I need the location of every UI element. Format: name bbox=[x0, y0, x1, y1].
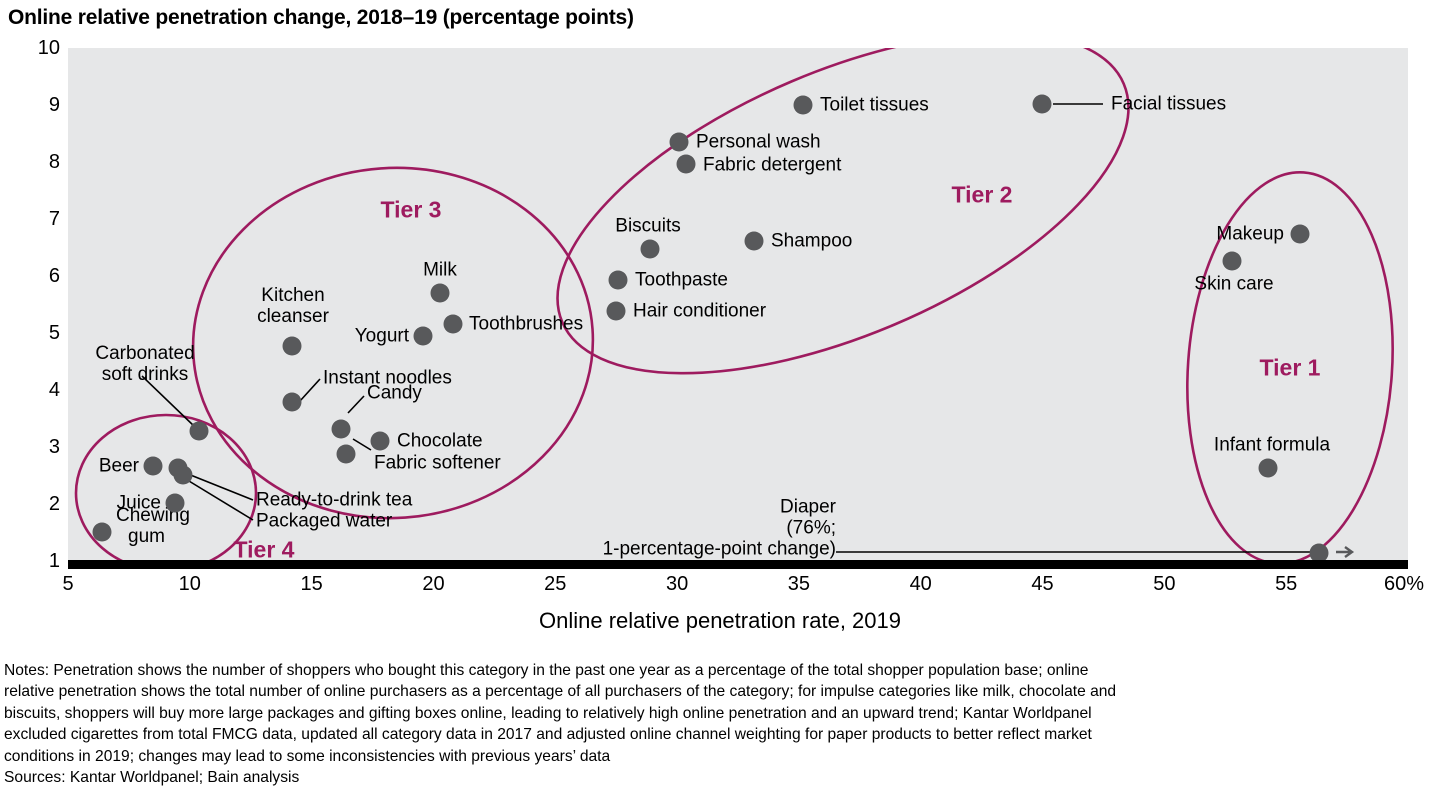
leader-pkg-water bbox=[184, 478, 253, 520]
y-tick-4: 4 bbox=[2, 380, 60, 400]
label-diaper-line2: (76%; bbox=[786, 518, 836, 539]
x-tick-5: 5 bbox=[62, 572, 73, 596]
label-personal-wash: Personal wash bbox=[696, 132, 821, 153]
label-ready-to-drink-tea: Ready-to-drink tea bbox=[256, 490, 412, 511]
y-tick-8: 8 bbox=[2, 152, 60, 172]
point-packaged-water[interactable] bbox=[174, 466, 193, 485]
label-juice: Juice bbox=[117, 493, 161, 514]
leader-fabric-softener bbox=[353, 439, 371, 450]
notes-line-4: excluded cigarettes from total FMCG data… bbox=[4, 724, 1436, 745]
label-diaper-line1: Diaper bbox=[780, 497, 836, 518]
label-fabric-detergent: Fabric detergent bbox=[703, 155, 841, 176]
point-personal-wash[interactable] bbox=[670, 133, 689, 152]
point-instant-noodles[interactable] bbox=[283, 393, 302, 412]
tier-1-label: Tier 1 bbox=[1260, 355, 1321, 382]
point-makeup[interactable] bbox=[1291, 225, 1310, 244]
x-axis-title: Online relative penetration rate, 2019 bbox=[0, 608, 1440, 634]
point-fabric-detergent[interactable] bbox=[677, 155, 696, 174]
label-candy: Candy bbox=[367, 383, 422, 404]
notes-line-5: conditions in 2019; changes may lead to … bbox=[4, 746, 1436, 767]
y-tick-3: 3 bbox=[2, 437, 60, 457]
label-diaper-line3: 1-percentage-point change) bbox=[603, 539, 836, 560]
point-toilet-tissues[interactable] bbox=[794, 96, 813, 115]
y-tick-1: 1 bbox=[2, 551, 60, 571]
point-chocolate[interactable] bbox=[371, 432, 390, 451]
x-tick-50: 50 bbox=[1153, 572, 1175, 596]
point-candy[interactable] bbox=[332, 420, 351, 439]
notes-line-1: Notes: Penetration shows the number of s… bbox=[4, 660, 1436, 681]
label-kitchen-line1: Kitchen bbox=[261, 285, 324, 306]
point-toothpaste[interactable] bbox=[609, 271, 628, 290]
point-fabric-softener[interactable] bbox=[337, 445, 356, 464]
point-infant-formula[interactable] bbox=[1259, 459, 1278, 478]
x-tick-45: 45 bbox=[1031, 572, 1053, 596]
label-toothpaste: Toothpaste bbox=[635, 270, 728, 291]
label-facial-tissues: Facial tissues bbox=[1111, 94, 1226, 115]
point-beer[interactable] bbox=[144, 457, 163, 476]
point-juice[interactable] bbox=[166, 494, 185, 513]
x-tick-35: 35 bbox=[788, 572, 810, 596]
notes-block: Notes: Penetration shows the number of s… bbox=[4, 660, 1436, 788]
y-axis-ticks: 10 9 8 7 6 5 4 3 2 1 bbox=[0, 48, 60, 562]
label-diaper: Diaper(76%;1-percentage-point change) bbox=[603, 497, 836, 560]
notes-line-3: biscuits, shoppers will buy more large p… bbox=[4, 703, 1436, 724]
notes-line-2: relative penetration shows the total num… bbox=[4, 681, 1436, 702]
tier-3-label: Tier 3 bbox=[381, 197, 442, 224]
page-title: Online relative penetration change, 2018… bbox=[8, 6, 634, 30]
notes-sources: Sources: Kantar Worldpanel; Bain analysi… bbox=[4, 767, 1436, 788]
label-carbonated-soft-drinks: Carbonatedsoft drinks bbox=[95, 343, 194, 385]
label-milk: Milk bbox=[423, 260, 457, 281]
point-biscuits[interactable] bbox=[641, 240, 660, 259]
x-tick-30: 30 bbox=[666, 572, 688, 596]
leader-candy bbox=[348, 396, 364, 413]
point-toothbrushes[interactable] bbox=[444, 315, 463, 334]
x-tick-20: 20 bbox=[422, 572, 444, 596]
point-carbonated-soft-drinks[interactable] bbox=[190, 422, 209, 441]
point-kitchen-cleanser[interactable] bbox=[283, 337, 302, 356]
label-carbonated-line1: Carbonated bbox=[95, 343, 194, 364]
label-kitchen-cleanser: Kitchencleanser bbox=[257, 285, 329, 327]
x-tick-40: 40 bbox=[910, 572, 932, 596]
label-infant-formula: Infant formula bbox=[1214, 435, 1330, 456]
label-toilet-tissues: Toilet tissues bbox=[820, 95, 929, 116]
x-tick-15: 15 bbox=[300, 572, 322, 596]
label-toothbrushes: Toothbrushes bbox=[469, 314, 583, 335]
point-yogurt[interactable] bbox=[414, 327, 433, 346]
leader-rtd-tea bbox=[183, 472, 253, 500]
label-beer: Beer bbox=[99, 456, 139, 477]
label-packaged-water: Packaged water bbox=[256, 511, 392, 532]
label-chewing-gum-line2: gum bbox=[128, 526, 165, 547]
x-tick-60: 60% bbox=[1384, 572, 1424, 596]
point-chewing-gum[interactable] bbox=[93, 523, 112, 542]
point-shampoo[interactable] bbox=[745, 232, 764, 251]
point-facial-tissues[interactable] bbox=[1033, 95, 1052, 114]
label-chocolate: Chocolate bbox=[397, 431, 483, 452]
y-tick-2: 2 bbox=[2, 494, 60, 514]
x-tick-25: 25 bbox=[544, 572, 566, 596]
y-tick-6: 6 bbox=[2, 266, 60, 286]
label-makeup: Makeup bbox=[1216, 224, 1284, 245]
label-biscuits: Biscuits bbox=[615, 216, 680, 237]
x-axis-ticks: 5 10 15 20 25 30 35 40 45 50 55 60% bbox=[68, 572, 1408, 600]
label-skin-care: Skin care bbox=[1194, 274, 1273, 295]
x-tick-55: 55 bbox=[1275, 572, 1297, 596]
y-tick-9: 9 bbox=[2, 95, 60, 115]
y-tick-10: 10 bbox=[2, 38, 60, 58]
plot-area: Chewinggum Beer Juice Ready-to-drink tea… bbox=[68, 48, 1408, 562]
y-tick-7: 7 bbox=[2, 209, 60, 229]
tier-2-label: Tier 2 bbox=[952, 182, 1013, 209]
leader-instant-noodles bbox=[300, 379, 320, 401]
point-skin-care[interactable] bbox=[1223, 252, 1242, 271]
point-hair-conditioner[interactable] bbox=[607, 302, 626, 321]
label-yogurt: Yogurt bbox=[355, 326, 409, 347]
point-milk[interactable] bbox=[431, 284, 450, 303]
label-hair-conditioner: Hair conditioner bbox=[633, 301, 766, 322]
x-axis-line bbox=[68, 560, 1408, 569]
x-tick-10: 10 bbox=[179, 572, 201, 596]
label-kitchen-line2: cleanser bbox=[257, 306, 329, 327]
diaper-arrow-head bbox=[1336, 547, 1352, 557]
label-fabric-softener: Fabric softener bbox=[374, 453, 501, 474]
label-carbonated-line2: soft drinks bbox=[102, 364, 189, 385]
label-shampoo: Shampoo bbox=[771, 231, 852, 252]
y-tick-5: 5 bbox=[2, 323, 60, 343]
